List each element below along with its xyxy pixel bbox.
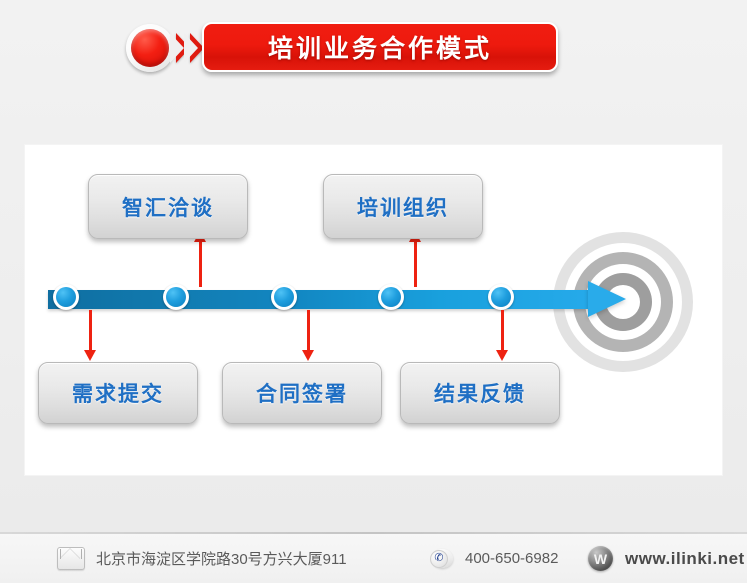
footer-phone-text: 400-650-6982	[465, 550, 558, 567]
step-box-bottom-3[interactable]: 结果反馈	[400, 362, 560, 424]
timeline-node-4[interactable]	[378, 284, 404, 310]
timeline-node-5[interactable]	[488, 284, 514, 310]
red-circle-inner	[131, 29, 169, 67]
step-box-bottom-2-label: 合同签署	[256, 378, 348, 408]
connector-arrowhead-bottom-2	[302, 350, 314, 361]
slide-canvas: 培训业务合作模式	[0, 0, 747, 583]
envelope-icon	[57, 547, 85, 570]
timeline-node-2[interactable]	[163, 284, 189, 310]
footer-phone: ✆ 400-650-6982	[428, 534, 558, 583]
step-box-top-2-label: 培训组织	[357, 192, 449, 222]
footer-website[interactable]: W www.ilinki.net	[588, 534, 745, 583]
globe-icon: W	[588, 546, 613, 571]
chevron-notch-2	[184, 33, 198, 63]
page-title: 培训业务合作模式	[268, 29, 492, 65]
step-box-top-1[interactable]: 智汇洽谈	[88, 174, 248, 239]
connector-line-top-2	[414, 241, 417, 287]
timeline-node-3[interactable]	[271, 284, 297, 310]
step-box-top-2[interactable]: 培训组织	[323, 174, 483, 239]
connector-line-top-1	[199, 241, 202, 287]
connector-arrowhead-bottom-1	[84, 350, 96, 361]
step-box-top-1-label: 智汇洽谈	[122, 192, 214, 222]
timeline-node-1[interactable]	[53, 284, 79, 310]
step-box-bottom-2[interactable]: 合同签署	[222, 362, 382, 424]
step-box-bottom-1-label: 需求提交	[72, 378, 164, 408]
footer-address-text: 北京市海淀区学院路30号方兴大厦911	[96, 548, 347, 569]
step-box-bottom-1[interactable]: 需求提交	[38, 362, 198, 424]
chevron-notch-1	[170, 33, 184, 63]
content-panel: 智汇洽谈 培训组织 需求提交 合同签署 结果反馈	[25, 145, 722, 475]
right-arrow-icon	[588, 281, 626, 317]
connector-line-bottom-2	[307, 310, 310, 350]
timeline-arrow	[48, 285, 628, 311]
phone-icon-handset: ✆	[430, 550, 448, 568]
title-plate: 培训业务合作模式	[202, 22, 558, 72]
footer-website-text: www.ilinki.net	[625, 549, 745, 569]
connector-line-bottom-1	[89, 310, 92, 350]
red-circle-bullet-icon	[126, 24, 174, 72]
connector-line-bottom-3	[501, 310, 504, 350]
title-banner: 培训业务合作模式	[126, 20, 558, 76]
step-box-bottom-3-label: 结果反馈	[434, 378, 526, 408]
footer-address: 北京市海淀区学院路30号方兴大厦911	[57, 534, 347, 583]
connector-arrowhead-bottom-3	[496, 350, 508, 361]
phone-icon: ✆	[428, 547, 454, 571]
footer-bar: 北京市海淀区学院路30号方兴大厦911 ✆ 400-650-6982 W www…	[0, 534, 747, 583]
